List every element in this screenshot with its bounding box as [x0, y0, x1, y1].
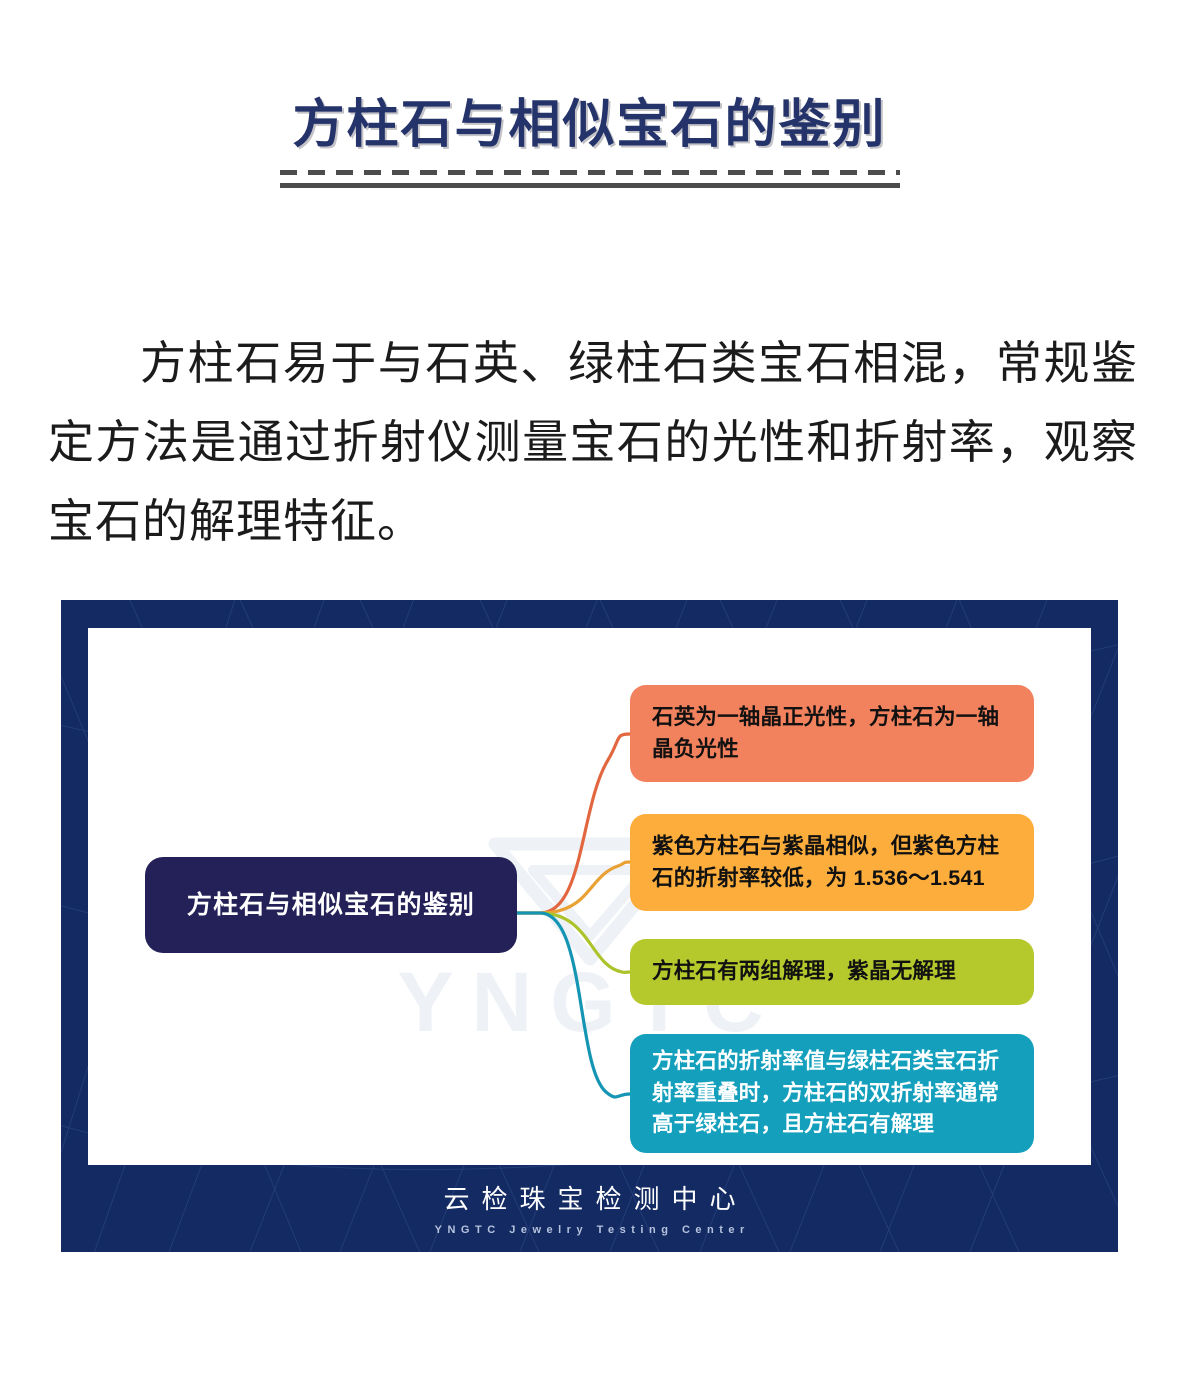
title-rule	[280, 170, 900, 188]
mindmap-branch-label-3: 方柱石的折射率值与绿柱石类宝石折射率重叠时，方柱石的双折射率通常高于绿柱石，且方…	[652, 1046, 1012, 1140]
mindmap-panel: YNGTC 方柱石与相似宝石的鉴别 石英为一轴晶正光性，方柱石为一轴晶负光性 紫…	[88, 628, 1091, 1165]
title-solid-rule	[280, 183, 900, 188]
body-paragraph: 方柱石易于与石英、绿柱石类宝石相混，常规鉴定方法是通过折射仪测量宝石的光性和折射…	[48, 324, 1138, 561]
mindmap-root-label: 方柱石与相似宝石的鉴别	[187, 887, 475, 924]
title-block: 方柱石与相似宝石的鉴别	[0, 96, 1179, 188]
brand-name-en: YNGTC Jewelry Testing Center	[61, 1224, 1118, 1236]
connector-3	[517, 913, 630, 1097]
mindmap-branch-node-3[interactable]: 方柱石的折射率值与绿柱石类宝石折射率重叠时，方柱石的双折射率通常高于绿柱石，且方…	[630, 1034, 1034, 1153]
mindmap-branch-node-0[interactable]: 石英为一轴晶正光性，方柱石为一轴晶负光性	[630, 685, 1034, 782]
mindmap-branch-label-1: 紫色方柱石与紫晶相似，但紫色方柱石的折射率较低，为 1.536～1.541	[652, 831, 1012, 894]
title-dashed-rule	[280, 170, 900, 175]
brand-name-cn: 云检珠宝检测中心	[61, 1179, 1118, 1216]
mindmap-card: YNGTC 方柱石与相似宝石的鉴别 石英为一轴晶正光性，方柱石为一轴晶负光性 紫…	[61, 600, 1118, 1252]
mindmap-branch-node-2[interactable]: 方柱石有两组解理，紫晶无解理	[630, 939, 1034, 1005]
mindmap-root-node[interactable]: 方柱石与相似宝石的鉴别	[145, 857, 517, 953]
mindmap-branch-label-2: 方柱石有两组解理，紫晶无解理	[652, 956, 956, 987]
card-footer: 云检珠宝检测中心 YNGTC Jewelry Testing Center	[61, 1179, 1118, 1236]
mindmap-branch-node-1[interactable]: 紫色方柱石与紫晶相似，但紫色方柱石的折射率较低，为 1.536～1.541	[630, 814, 1034, 911]
connector-1	[517, 862, 630, 913]
page-title: 方柱石与相似宝石的鉴别	[0, 96, 1179, 156]
mindmap-branch-label-0: 石英为一轴晶正光性，方柱石为一轴晶负光性	[652, 702, 1012, 765]
connector-0	[517, 734, 630, 913]
